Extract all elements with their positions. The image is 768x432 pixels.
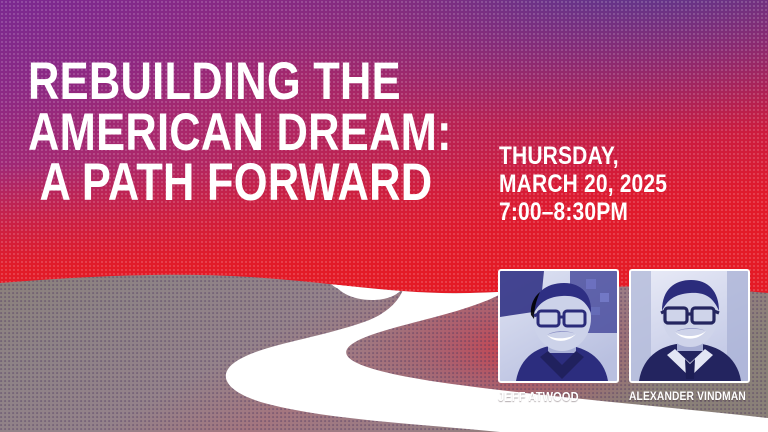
title-line-2: AMERICAN DREAM: xyxy=(28,109,413,157)
speaker-card-2: ALEXANDER VINDMAN xyxy=(629,269,750,404)
poster-title: REBUILDING THE AMERICAN DREAM: A PATH FO… xyxy=(28,58,498,210)
portrait-illustration-1 xyxy=(500,271,617,381)
event-poster: REBUILDING THE AMERICAN DREAM: A PATH FO… xyxy=(0,0,768,432)
date-line-date: MARCH 20, 2025 xyxy=(499,170,667,198)
title-line-1: REBUILDING THE xyxy=(28,58,413,106)
portrait-illustration-2 xyxy=(631,271,748,381)
speaker-name-1: JEFF ATWOOD xyxy=(498,390,604,404)
speaker-portrait-alexander-vindman xyxy=(629,269,750,383)
speaker-name-2: ALEXANDER VINDMAN xyxy=(629,390,735,403)
event-date-block: THURSDAY, MARCH 20, 2025 7:00–8:30PM xyxy=(499,142,699,226)
date-line-time: 7:00–8:30PM xyxy=(499,198,667,226)
title-line-3: A PATH FORWARD xyxy=(28,159,413,207)
speaker-portrait-group: JEFF ATWOOD xyxy=(498,269,750,404)
date-line-day: THURSDAY, xyxy=(499,142,667,170)
speaker-card-1: JEFF ATWOOD xyxy=(498,269,619,404)
speaker-portrait-jeff-atwood xyxy=(498,269,619,383)
